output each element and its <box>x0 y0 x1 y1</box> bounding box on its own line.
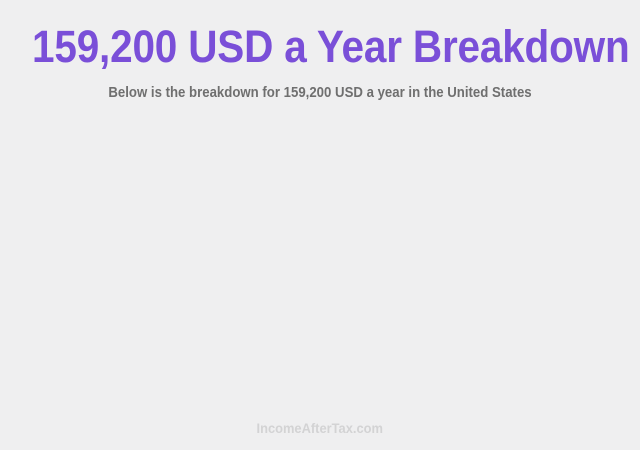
breakdown-page: 159,200 USD a Year Breakdown Below is th… <box>0 0 640 450</box>
chart-area <box>0 118 640 408</box>
page-header: 159,200 USD a Year Breakdown Below is th… <box>0 0 640 102</box>
chart-plot-area <box>0 118 640 408</box>
site-watermark: IncomeAfterTax.com <box>257 420 383 436</box>
page-title: 159,200 USD a Year Breakdown <box>32 22 608 72</box>
page-subtitle: Below is the breakdown for 159,200 USD a… <box>38 72 601 102</box>
page-footer: IncomeAfterTax.com <box>0 420 640 438</box>
